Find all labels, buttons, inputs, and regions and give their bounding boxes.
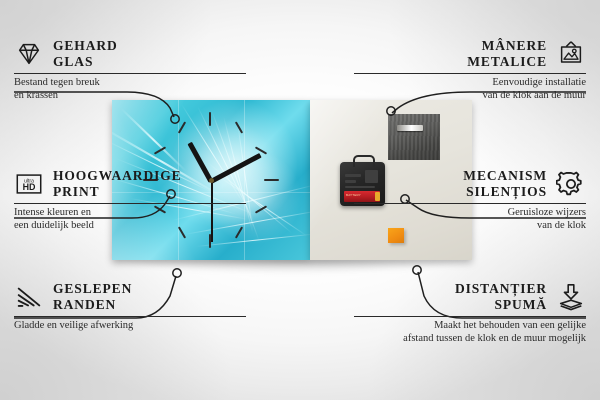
feature-divider [354, 203, 586, 204]
feature-title: DISTANȚIER SPUMĂ [455, 281, 547, 312]
svg-text:HD: HD [23, 182, 36, 192]
feature-title: GEHARD GLAS [53, 38, 118, 69]
feature-mecanism-silentios: MECANISM SILENȚIOS Geruisloze wijzers va… [354, 168, 586, 232]
feature-title: MECANISM SILENȚIOS [463, 168, 547, 199]
feature-divider [14, 316, 246, 317]
feature-distantier-spuma: DISTANȚIER SPUMĂ Maakt het behouden van … [354, 281, 586, 345]
feature-header: DISTANȚIER SPUMĂ [354, 281, 586, 312]
gear-icon [556, 169, 586, 199]
feature-geslepen-randen: GESLEPEN RANDEN Gladde en veilige afwerk… [14, 281, 246, 333]
press-down-layers-icon [556, 282, 586, 312]
infographic-canvas: BATTERY [0, 0, 600, 400]
feature-description: Maakt het behouden van een gelijke afsta… [354, 320, 586, 345]
feature-header: MECANISM SILENȚIOS [354, 168, 586, 199]
feature-description: Geruisloze wijzers van de klok [354, 207, 586, 232]
feature-header: GESLEPEN RANDEN [14, 281, 246, 312]
product-drop-shadow [118, 258, 468, 274]
ultra-hd-icon: ultra HD [14, 169, 44, 199]
feature-description: Gladde en veilige afwerking [14, 320, 246, 333]
feature-description: Intense kleuren en een duidelijk beeld [14, 207, 246, 232]
feature-manere-metalice: MÂNERE METALICE Eenvoudige installatie v… [354, 38, 586, 102]
bevelled-edges-icon [14, 282, 44, 312]
feature-hoogwaardige-print: ultra HD HOOGWAARDIGE PRINT Intense kleu… [14, 168, 246, 232]
feature-divider [14, 73, 246, 74]
feature-divider [354, 316, 586, 317]
mechanism-hook [353, 155, 375, 167]
feature-title: GESLEPEN RANDEN [53, 281, 132, 312]
diamond-icon [14, 39, 44, 69]
feature-title: MÂNERE METALICE [467, 38, 547, 69]
picture-frame-hanger-icon [556, 39, 586, 69]
feature-header: MÂNERE METALICE [354, 38, 586, 69]
feature-header: GEHARD GLAS [14, 38, 246, 69]
feature-description: Bestand tegen breuk en krassen [14, 77, 246, 102]
metal-hanger-plate [388, 114, 440, 160]
feature-divider [354, 73, 586, 74]
hanger-slot [397, 125, 423, 131]
feature-header: ultra HD HOOGWAARDIGE PRINT [14, 168, 246, 199]
feature-title: HOOGWAARDIGE PRINT [53, 168, 182, 199]
feature-divider [14, 203, 246, 204]
feature-description: Eenvoudige installatie van de klok aan d… [354, 77, 586, 102]
feature-gehard-glas: GEHARD GLAS Bestand tegen breuk en krass… [14, 38, 246, 102]
